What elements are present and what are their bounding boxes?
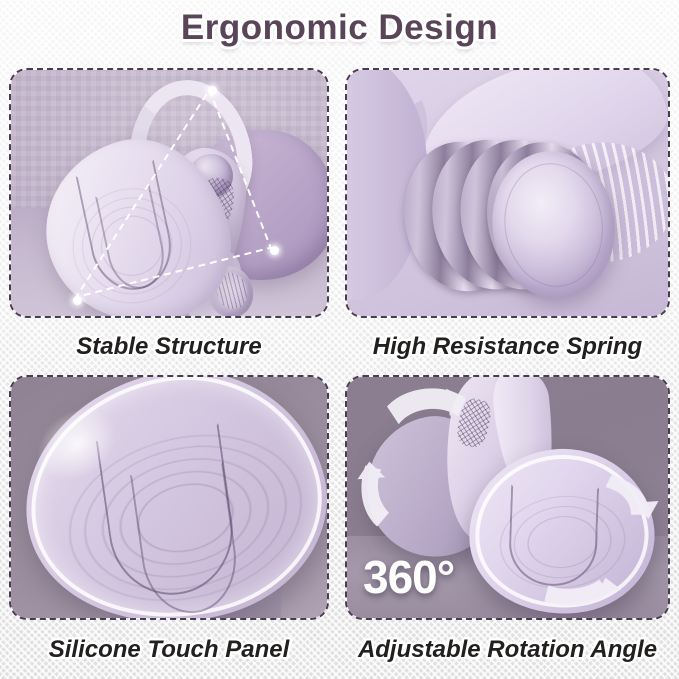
rotation-degree-badge: 360°: [363, 550, 454, 604]
panel-stable-structure: [9, 68, 329, 318]
caption-silicone-touch-panel: Silicone Touch Panel: [9, 636, 329, 664]
triangle-vertex-top: [208, 86, 217, 95]
triangle-vertex-left: [73, 296, 82, 305]
scene-adjustable-rotation-angle: 360°: [347, 377, 668, 618]
caption-high-resistance-spring: High Resistance Spring: [345, 333, 670, 361]
triangle-vertex-right: [270, 246, 279, 255]
page-root: Ergonomic Design Stable Str: [0, 0, 679, 679]
panel-silicone-touch-panel: [9, 375, 329, 620]
resistance-spring-coil: [385, 96, 619, 308]
rotation-arrow-head-left: [357, 462, 385, 480]
caption-stable-structure: Stable Structure: [9, 333, 329, 361]
page-title: Ergonomic Design: [0, 8, 679, 48]
scene-stable-structure: [11, 70, 327, 316]
stability-triangle-overlay: [11, 70, 327, 317]
panel-high-resistance-spring: [345, 68, 670, 318]
panel-adjustable-rotation-angle: 360°: [345, 375, 670, 620]
caption-adjustable-rotation-angle: Adjustable Rotation Angle: [345, 636, 670, 664]
scene-silicone-touch-panel: [11, 377, 327, 618]
scene-high-resistance-spring: [347, 70, 668, 316]
